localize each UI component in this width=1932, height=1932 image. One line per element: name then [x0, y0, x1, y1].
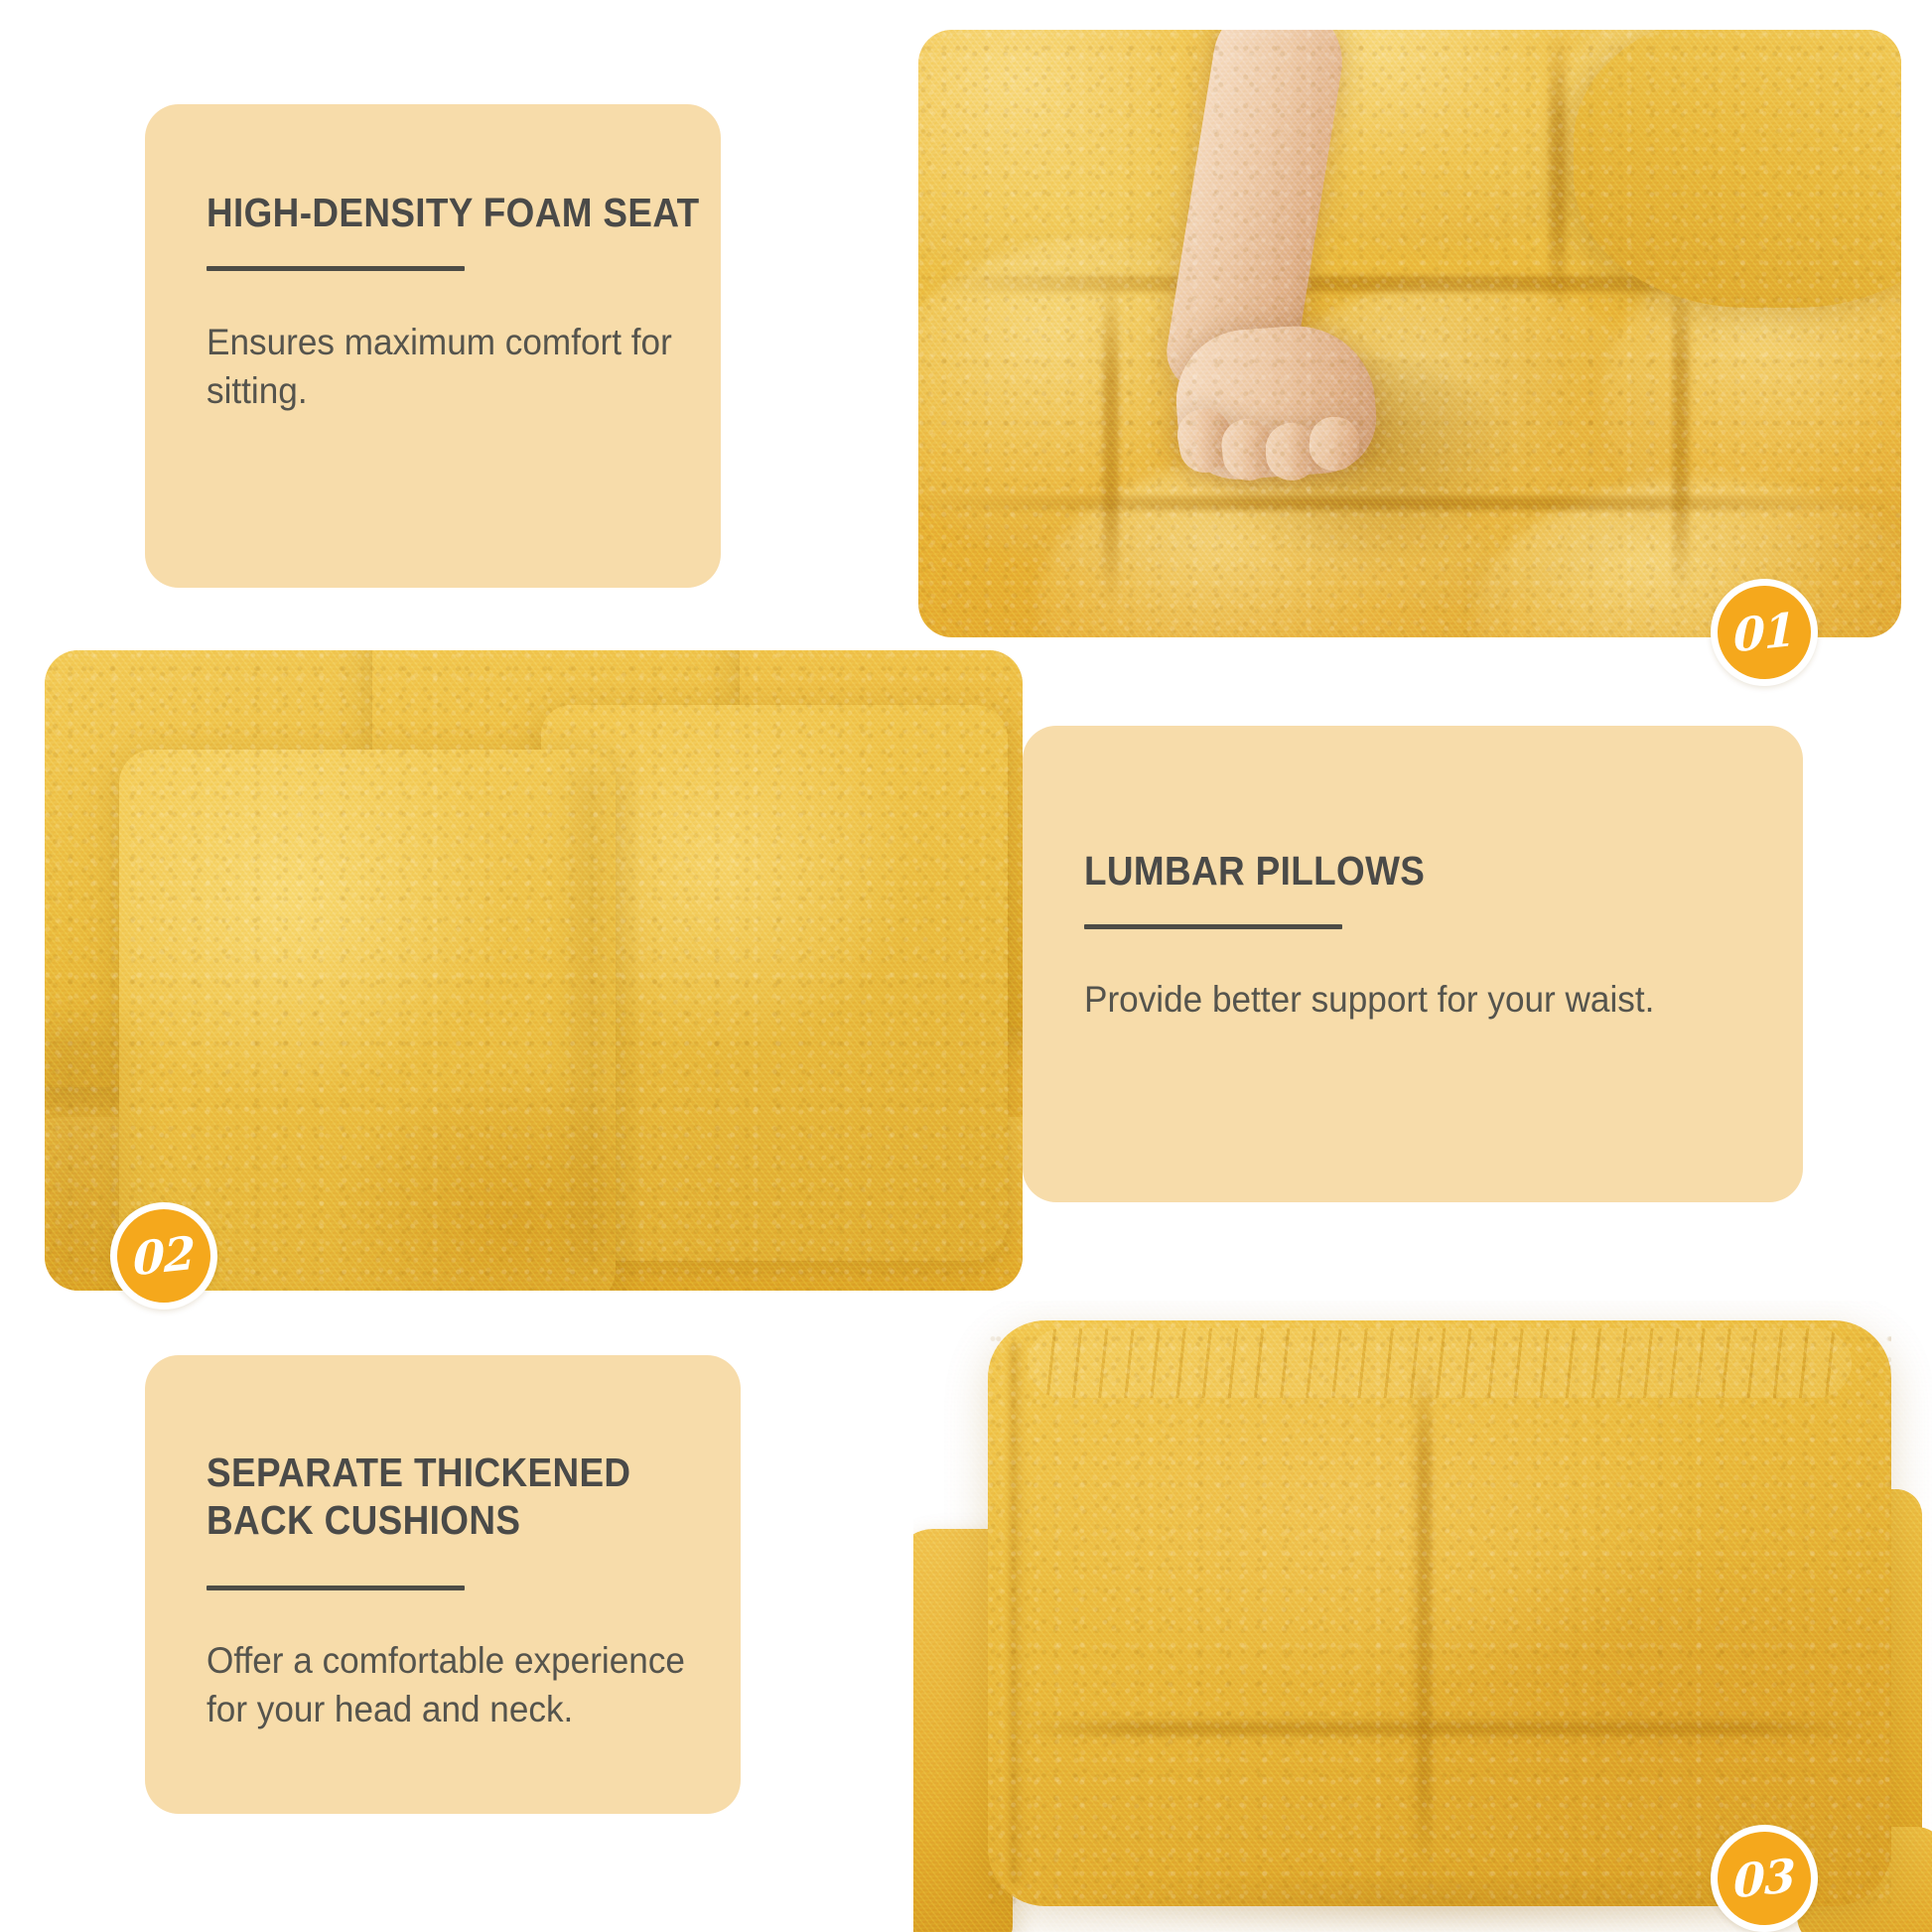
- feature-card-lumbar-pillows: LUMBAR PILLOWS Provide better support fo…: [1023, 726, 1803, 1202]
- feature-heading-back-cushions: SEPARATE THICKENED BACK CUSHIONS: [207, 1449, 778, 1544]
- feature-divider-back-cushions: [207, 1586, 465, 1590]
- feature-badge-01: 01: [1711, 579, 1818, 686]
- feature-divider-lumbar-pillows: [1084, 924, 1342, 929]
- feature-divider-foam-seat: [207, 266, 465, 271]
- feature-badge-03-number: 03: [1733, 1853, 1795, 1905]
- feature-badge-01-number: 01: [1733, 607, 1795, 659]
- feature-heading-lumbar-pillows: LUMBAR PILLOWS: [1084, 848, 1745, 896]
- feature-badge-02-number: 02: [133, 1230, 195, 1283]
- feature-heading-foam-seat: HIGH-DENSITY FOAM SEAT: [207, 190, 760, 237]
- feature-body-foam-seat: Ensures maximum comfort for sitting.: [207, 318, 707, 415]
- back-cushion-block: [988, 1320, 1891, 1906]
- feature-card-back-cushions: SEPARATE THICKENED BACK CUSHIONS Offer a…: [145, 1355, 741, 1814]
- infographic-canvas: 01 HIGH-DENSITY FOAM SEAT Ensures maximu…: [0, 0, 1932, 1932]
- pillow-left: [119, 750, 616, 1291]
- feature-badge-03: 03: [1711, 1825, 1818, 1932]
- feature-image-foam-seat: [918, 30, 1901, 637]
- feature-body-back-cushions: Offer a comfortable experience for your …: [207, 1636, 735, 1733]
- feature-image-lumbar-pillows: [45, 650, 1023, 1291]
- feature-body-lumbar-pillows: Provide better support for your waist.: [1084, 975, 1707, 1024]
- feature-badge-02: 02: [110, 1202, 217, 1310]
- feature-card-foam-seat: HIGH-DENSITY FOAM SEAT Ensures maximum c…: [145, 104, 721, 588]
